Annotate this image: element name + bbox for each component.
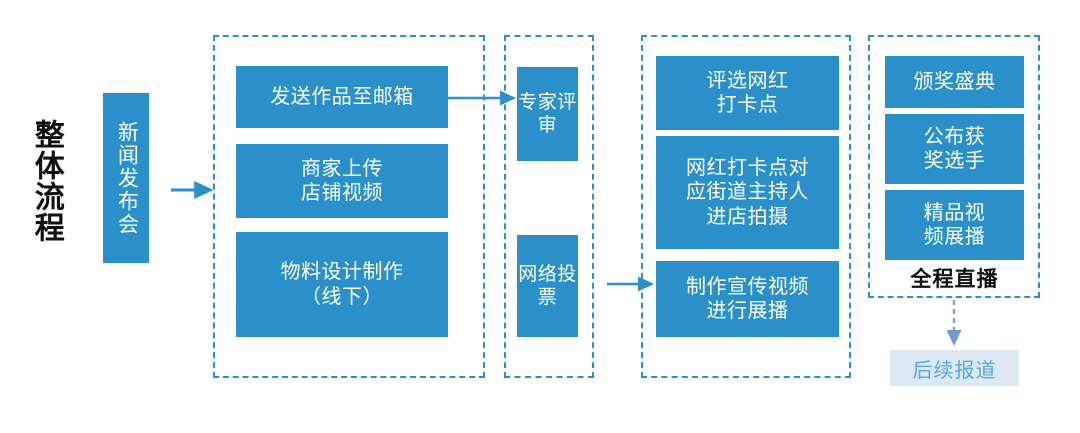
start-node-press-conference[interactable]: 新闻发布会 [103,93,149,263]
box-send-work-email[interactable]: 发送作品至邮箱 [236,66,448,128]
page-title: 整体流程 [22,92,70,270]
box-promo-video-broadcast[interactable]: 制作宣传视频 进行展播 [656,261,839,337]
box-premium-video-show[interactable]: 精品视 频展播 [885,190,1024,260]
box-select-checkin-spot[interactable]: 评选网红 打卡点 [656,56,839,130]
box-material-design[interactable]: 物料设计制作 （线下） [236,232,448,337]
box-announce-winners[interactable]: 公布获 奖选手 [885,114,1024,184]
box-follow-up-coverage[interactable]: 后续报道 [890,350,1019,386]
box-award-ceremony[interactable]: 颁奖盛典 [885,56,1024,108]
caption-full-live-broadcast: 全程直播 [885,264,1024,292]
flowchart-canvas: 整体流程 新闻发布会 发送作品至邮箱 商家上传 店铺视频 物料设计制作 （线下）… [0,0,1080,433]
box-online-vote[interactable]: 网络投票 [517,235,578,337]
box-expert-review[interactable]: 专家评审 [517,67,578,161]
box-merchant-upload-video[interactable]: 商家上传 店铺视频 [236,144,448,218]
box-host-instore-shoot[interactable]: 网红打卡点对 应街道主持人 进店拍摄 [656,136,839,249]
